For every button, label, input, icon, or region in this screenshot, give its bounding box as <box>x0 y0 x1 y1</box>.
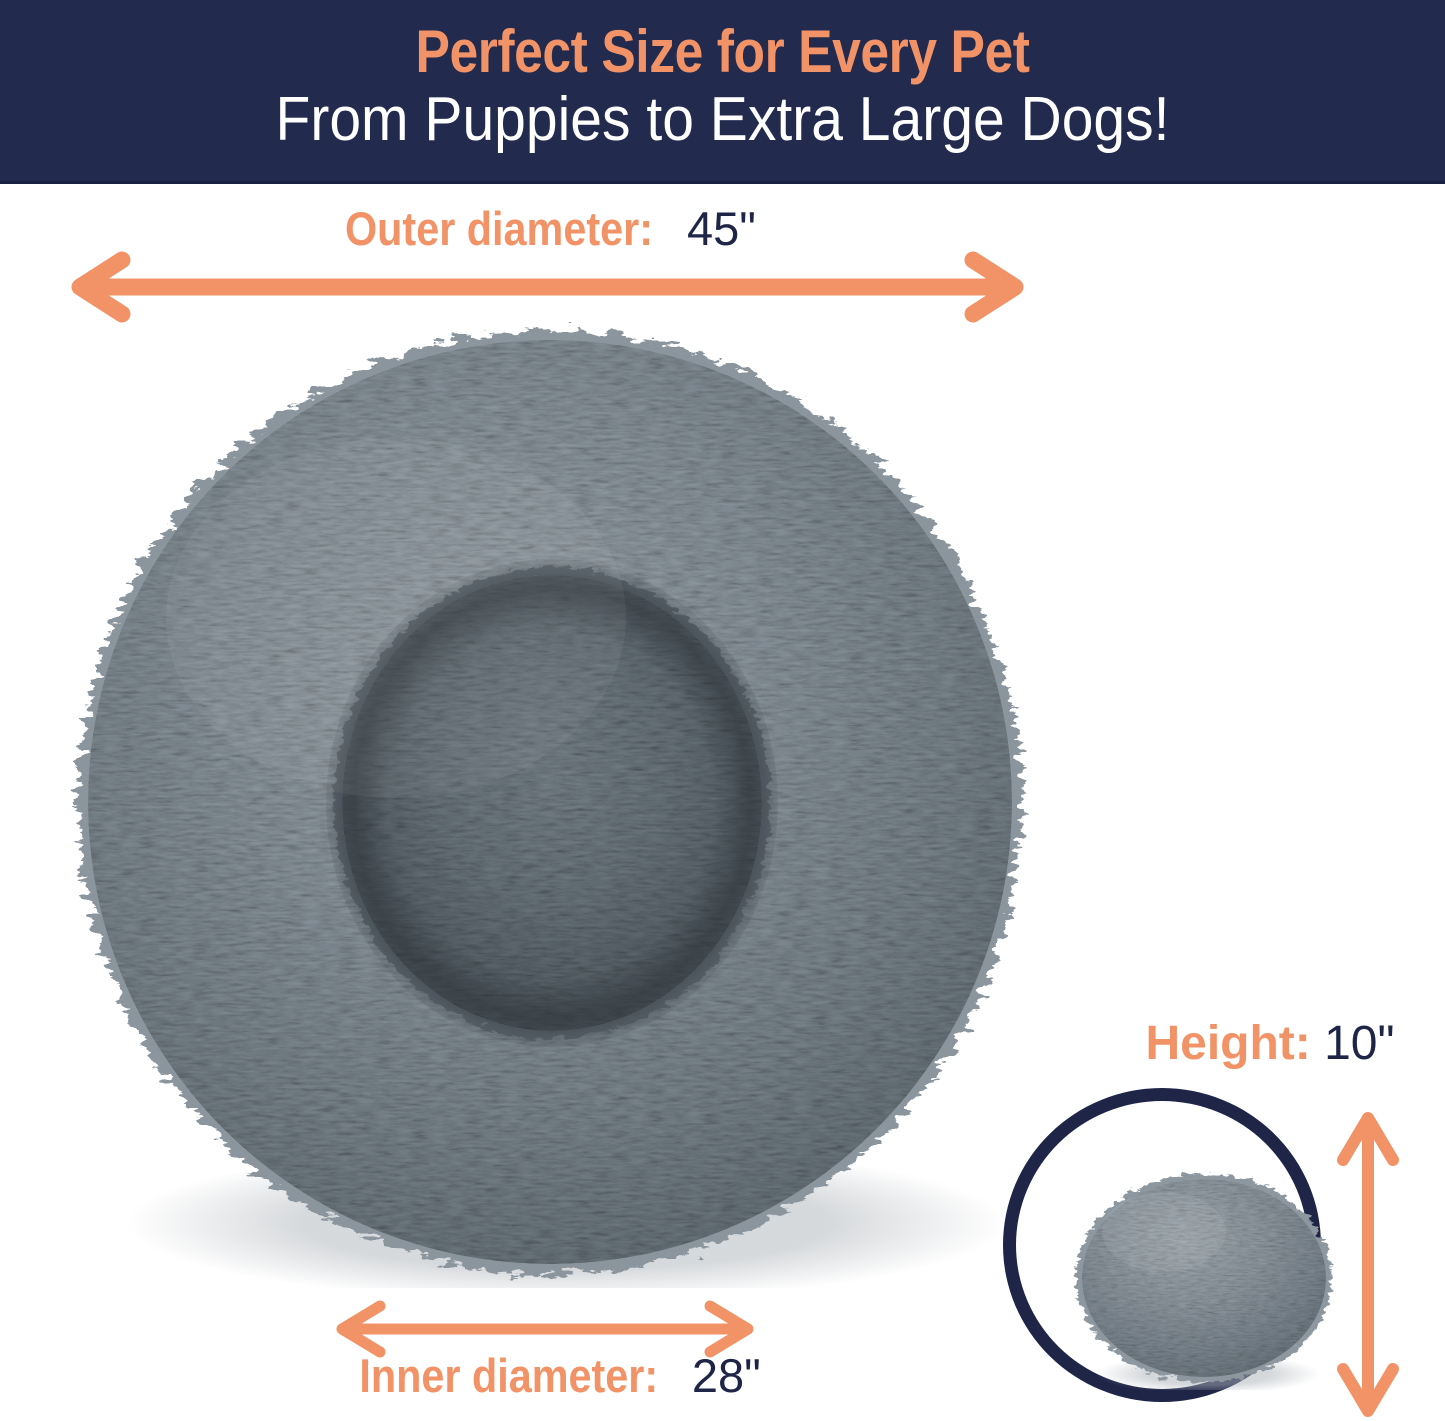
outer-diameter-label: Outer diameter: 45" <box>0 205 1080 252</box>
banner-subtitle: From Puppies to Extra Large Dogs! <box>58 83 1387 152</box>
inner-diameter-value: 28" <box>692 1349 761 1402</box>
bolster-highlight <box>166 438 626 798</box>
pet-bed-side-view <box>1068 1168 1338 1390</box>
outer-diameter-label-text: Outer diameter: <box>345 205 653 252</box>
height-label-text: Height: <box>1145 1017 1310 1070</box>
height-inset <box>995 1082 1335 1421</box>
infographic-page: Perfect Size for Every Pet From Puppies … <box>0 0 1445 1421</box>
inner-diameter-label: Inner diameter: 28" <box>250 1352 850 1399</box>
pet-bed-top-view <box>66 318 1034 1288</box>
banner-title: Perfect Size for Every Pet <box>101 0 1344 83</box>
height-arrow <box>1330 1108 1406 1421</box>
side-highlight <box>1102 1192 1226 1272</box>
height-value: 10" <box>1324 1017 1394 1070</box>
inner-diameter-label-text: Inner diameter: <box>360 1352 659 1399</box>
header-banner: Perfect Size for Every Pet From Puppies … <box>0 0 1445 184</box>
height-label: Height: 10" <box>1100 1020 1440 1068</box>
outer-diameter-value: 45" <box>687 202 756 255</box>
outer-diameter-arrow <box>60 252 1035 322</box>
